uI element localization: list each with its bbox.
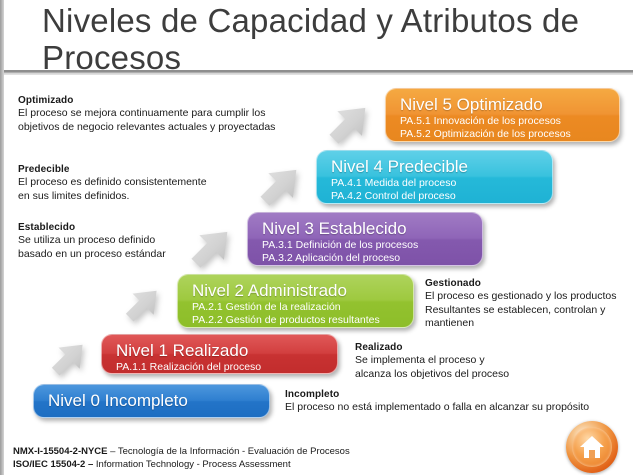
level-attribute-1: PA.4.1 Medida del proceso	[331, 177, 540, 190]
description-line: Se utiliza un proceso definido	[18, 234, 268, 248]
description-gestionado: Gestionado El proceso es gestionado y lo…	[425, 277, 633, 331]
home-button[interactable]	[566, 421, 618, 473]
level-attribute-2: PA.2.2 Gestión de productos resultantes	[192, 314, 401, 327]
level-box-nivel-0[interactable]: Nivel 0 Incompleto	[33, 384, 270, 418]
description-line: alcanza los objetivos del proceso	[355, 368, 633, 382]
description-heading: Gestionado	[425, 277, 633, 290]
level-title: Nivel 1 Realizado	[116, 340, 325, 361]
description-heading: Establecido	[18, 221, 268, 234]
description-line: objetivos de negocio relevantes actuales…	[18, 121, 318, 135]
level-attribute-1: PA.1.1 Realización del proceso	[116, 361, 325, 374]
footer-standards: NMX-I-15504-2-NYCE – Tecnología de la In…	[13, 446, 573, 471]
footer-text-es: – Tecnología de la Información - Evaluac…	[108, 446, 350, 457]
level-title: Nivel 3 Establecido	[262, 218, 470, 239]
description-line: El proceso se mejora continuamente para …	[18, 107, 318, 121]
level-attribute-2: PA.5.2 Optimización de los procesos	[400, 128, 607, 141]
level-attribute-2: PA.3.2 Aplicación del proceso	[262, 252, 470, 265]
description-line: mantienen	[425, 317, 633, 331]
level-attribute-2: PA.4.2 Control del proceso	[331, 190, 540, 203]
description-line: Resultantes se establecen, controlan y	[425, 304, 633, 318]
level-box-nivel-3[interactable]: Nivel 3 Establecido PA.3.1 Definición de…	[247, 212, 483, 266]
description-line: El proceso no está implementado o falla …	[285, 401, 633, 415]
description-predecible: Predecible El proceso es definido consis…	[18, 163, 278, 203]
level-box-nivel-2[interactable]: Nivel 2 Administrado PA.2.1 Gestión de l…	[177, 274, 414, 328]
level-box-nivel-1[interactable]: Nivel 1 Realizado PA.1.1 Realización del…	[101, 334, 338, 374]
description-line: en sus limites definidos.	[18, 190, 278, 204]
arrow-up-right-icon-level1	[48, 338, 96, 386]
description-line: Se implementa el proceso y	[355, 354, 633, 368]
arrow-up-right-icon-level2	[122, 284, 170, 332]
footer-text-en: Information Technology - Process Assessm…	[93, 459, 290, 470]
level-title: Nivel 2 Administrado	[192, 280, 401, 301]
description-line: El proceso es gestionado y los productos	[425, 290, 633, 304]
footer-line-es: NMX-I-15504-2-NYCE – Tecnología de la In…	[13, 446, 573, 459]
page-title: Niveles de Capacidad y Atributos de Proc…	[42, 2, 602, 76]
description-heading: Realizado	[355, 341, 633, 354]
description-realizado: Realizado Se implementa el proceso y alc…	[355, 341, 633, 381]
level-title: Nivel 0 Incompleto	[48, 390, 188, 411]
description-establecido: Establecido Se utiliza un proceso defini…	[18, 221, 268, 261]
level-attribute-1: PA.5.1 Innovación de los procesos	[400, 115, 607, 128]
description-incompleto: Incompleto El proceso no está implementa…	[285, 388, 633, 415]
description-heading: Incompleto	[285, 388, 633, 401]
description-optimizado: Optimizado El proceso se mejora continua…	[18, 94, 318, 134]
level-box-nivel-4[interactable]: Nivel 4 Predecible PA.4.1 Medida del pro…	[316, 150, 553, 204]
level-attribute-1: PA.3.1 Definición de los procesos	[262, 239, 470, 252]
description-line: basado en un proceso estándar	[18, 248, 268, 262]
level-title: Nivel 5 Optimizado	[400, 94, 607, 115]
home-button-ring	[572, 427, 612, 467]
description-heading: Predecible	[18, 163, 278, 176]
footer-line-en: ISO/IEC 15504-2 – Information Technology…	[13, 459, 573, 472]
home-icon	[579, 435, 605, 459]
level-box-nivel-5[interactable]: Nivel 5 Optimizado PA.5.1 Innovación de …	[385, 88, 620, 142]
footer-code-en: ISO/IEC 15504-2 –	[13, 459, 93, 470]
level-title: Nivel 4 Predecible	[331, 156, 540, 177]
level-attribute-1: PA.2.1 Gestión de la realización	[192, 301, 401, 314]
arrow-up-right-icon-level5	[325, 100, 381, 156]
description-line: El proceso es definido consistentemente	[18, 176, 278, 190]
title-divider	[4, 70, 633, 75]
footer-code-es: NMX-I-15504-2-NYCE	[13, 446, 108, 457]
description-heading: Optimizado	[18, 94, 318, 107]
